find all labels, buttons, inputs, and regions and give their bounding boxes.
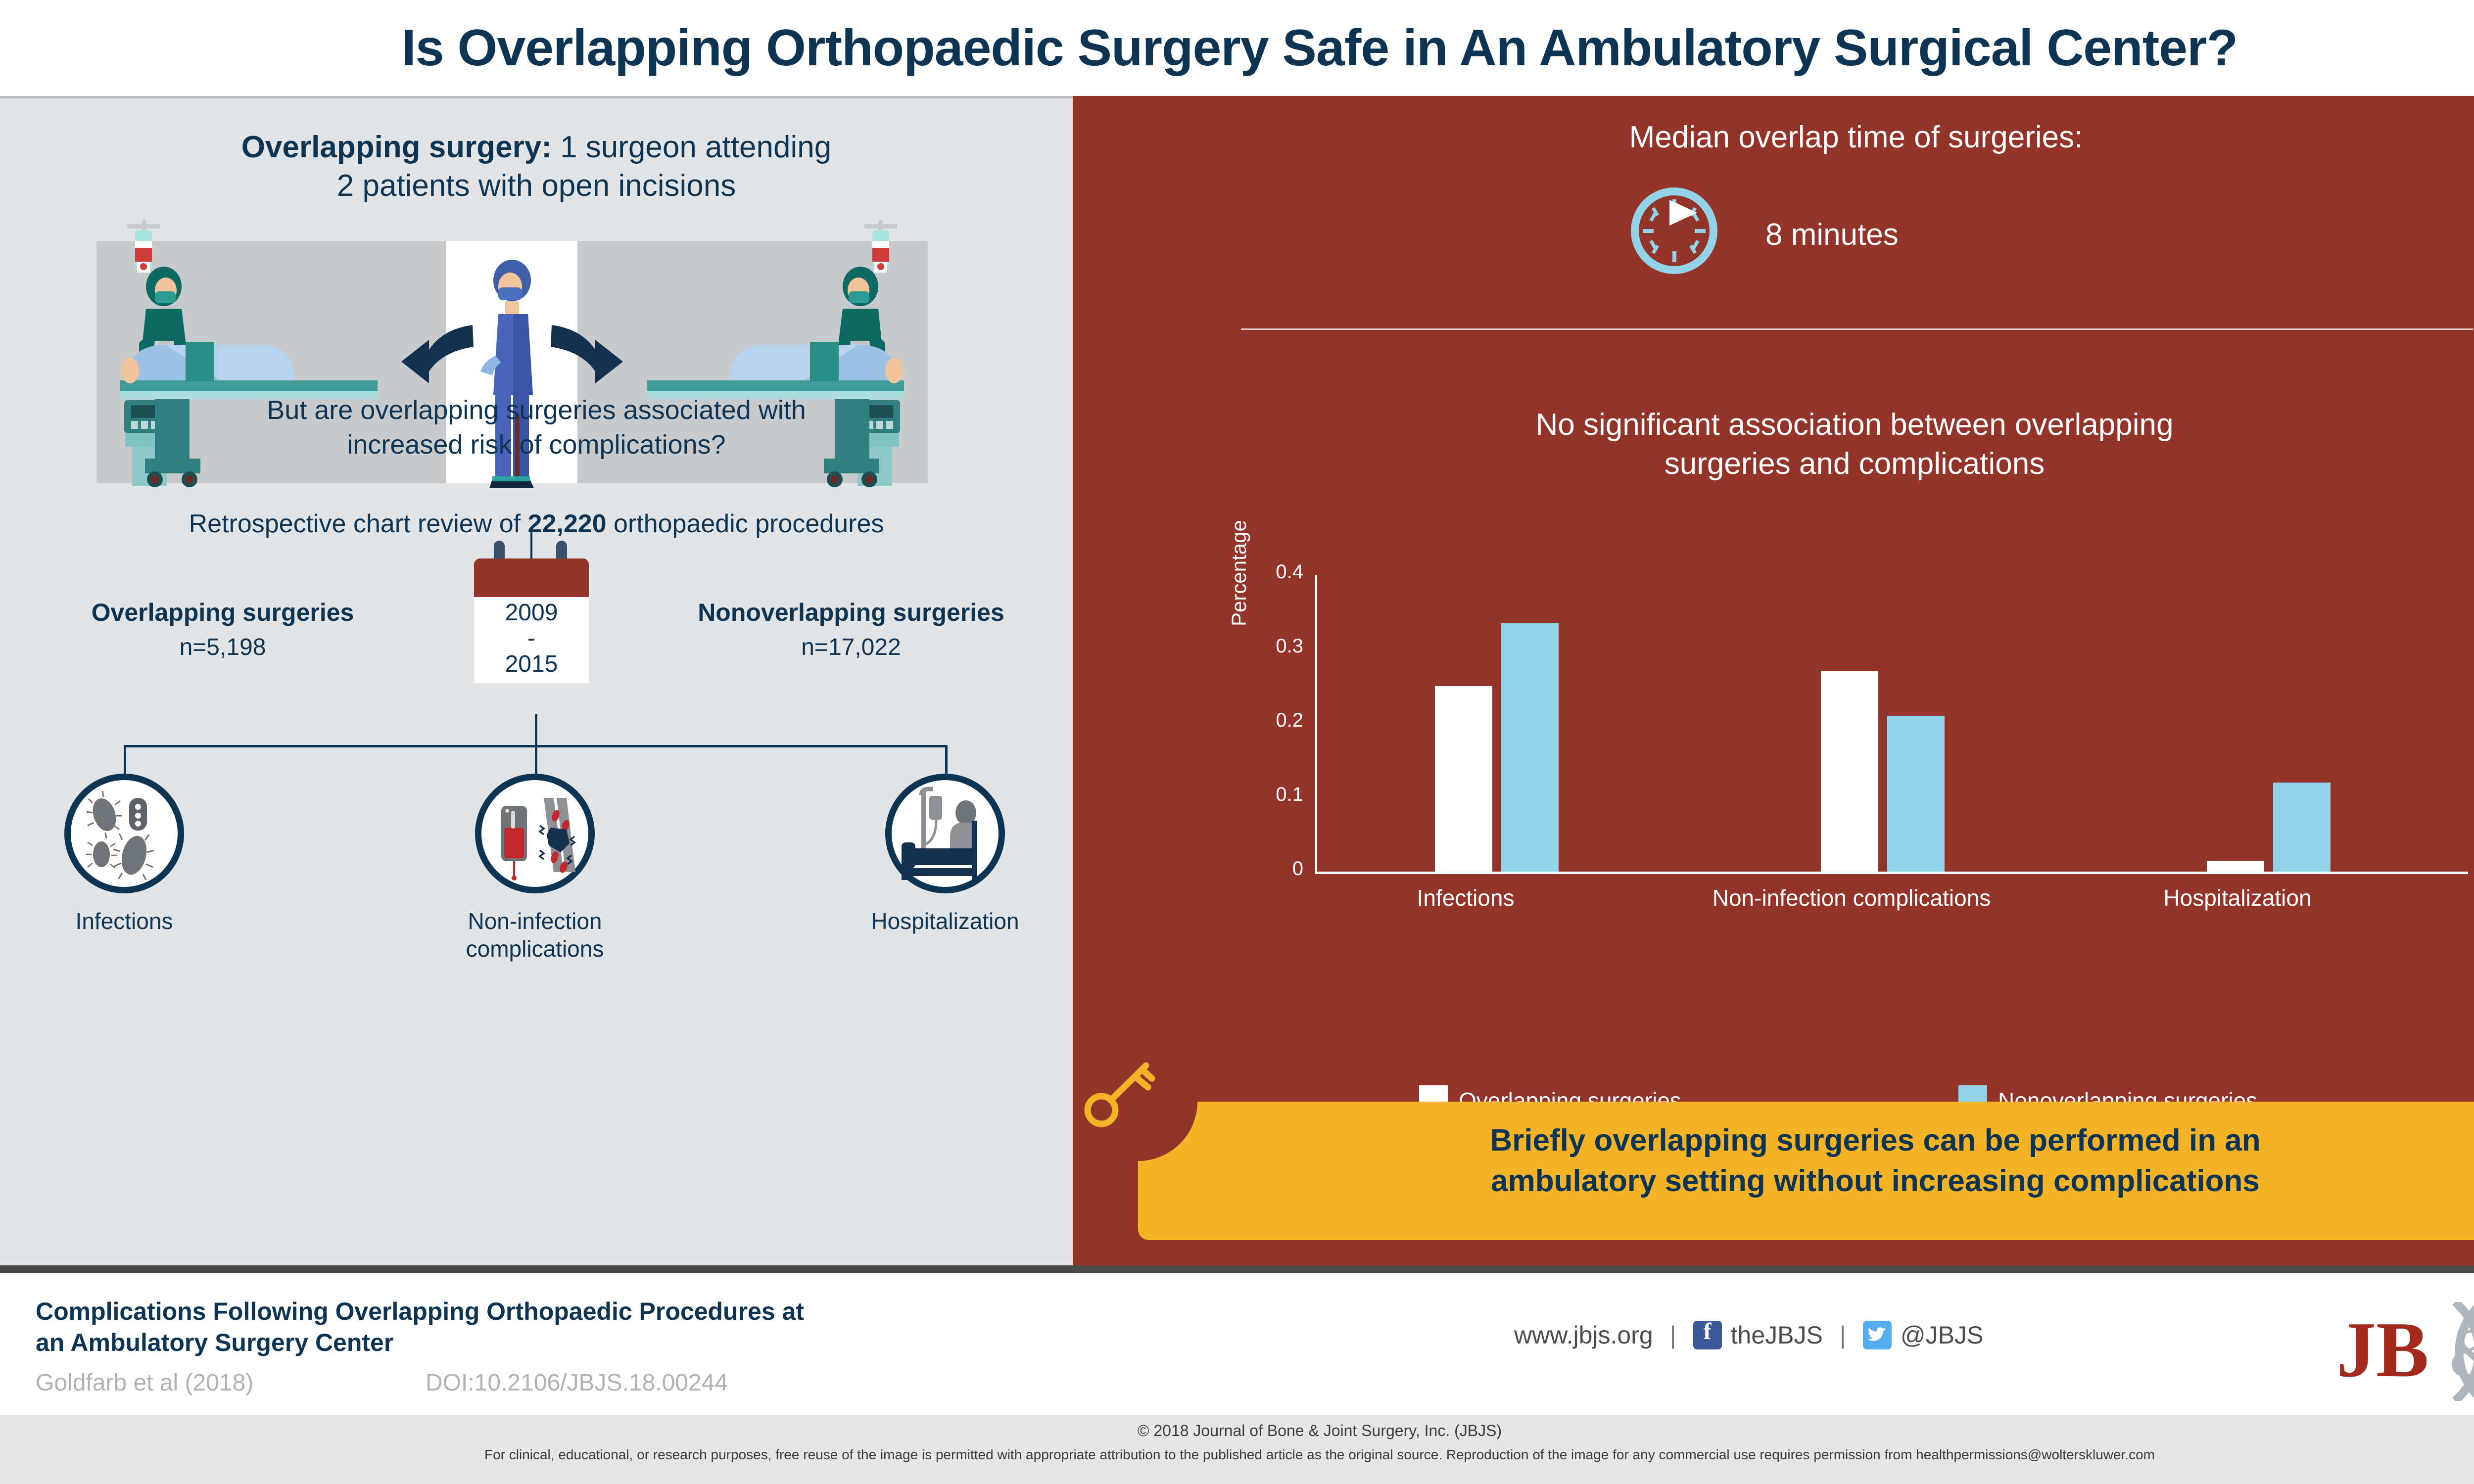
group-overlapping: Overlapping surgeries n=5,198 xyxy=(35,598,411,661)
y-tick-0.3: 0.3 xyxy=(1249,635,1303,657)
left-panel: Overlapping surgery: 1 surgeon attending… xyxy=(0,96,1073,1268)
section-divider xyxy=(1241,328,2473,330)
outcome-circle-hospitalization xyxy=(885,774,1005,893)
social-links: www.jbjs.org | theJBJS | @JBJS xyxy=(1514,1321,1983,1349)
calendar-icon: 2009 - 2015 xyxy=(459,558,613,682)
chart-plot-area: Infections Non-infection complications H… xyxy=(1317,575,2468,872)
right-panel: Median overlap time of surgeries: 8 minu… xyxy=(1073,96,2474,1265)
outcome-label-noninfection: Non-infection complications xyxy=(431,907,639,963)
question-line-2: increased risk of complications? xyxy=(0,427,1073,462)
article-doi[interactable]: DOI:10.2106/JBJS.18.00244 xyxy=(426,1369,728,1396)
group-nonoverlapping: Nonoverlapping surgeries n=17,022 xyxy=(663,598,1039,661)
x-tick-infections: Infections xyxy=(1317,884,1614,912)
bar-infections-overlapping[interactable] xyxy=(1435,686,1492,872)
facebook-icon[interactable] xyxy=(1693,1321,1722,1349)
page-title: Is Overlapping Orthopaedic Surgery Safe … xyxy=(402,19,2237,78)
overlapping-definition: Overlapping surgery: 1 surgeon attending… xyxy=(0,128,1073,205)
chart-review-statement: Retrospective chart review of 22,220 ort… xyxy=(0,509,1073,539)
group-overlapping-count: n=5,198 xyxy=(35,634,411,661)
hospital-bed-icon xyxy=(892,780,999,887)
x-tick-noninfection: Non-infection complications xyxy=(1703,884,2000,912)
calendar-header-band xyxy=(474,558,589,597)
outcome-circle-infections xyxy=(64,774,184,893)
infographic-page: Is Overlapping Orthopaedic Surgery Safe … xyxy=(0,0,2474,1484)
association-heading: No significant association between overl… xyxy=(1162,405,2474,484)
article-title-line-2: an Ambulatory Surgery Center xyxy=(36,1327,1174,1358)
article-authors: Goldfarb et al (2018) xyxy=(36,1369,253,1396)
bar-hospitalization-overlapping[interactable] xyxy=(2207,861,2264,872)
calendar-connector-line xyxy=(530,528,532,560)
year-start: 2009 xyxy=(474,600,589,626)
definition-line2: 2 patients with open incisions xyxy=(0,167,1073,205)
review-suffix: orthopaedic procedures xyxy=(607,510,884,538)
separator-2: | xyxy=(1840,1321,1846,1349)
procedure-count: 22,220 xyxy=(528,510,607,538)
year-dash: - xyxy=(474,626,589,651)
outcome-circle-noninfection xyxy=(475,774,595,893)
bar-group-noninfection xyxy=(1762,575,2040,872)
article-title: Complications Following Overlapping Orth… xyxy=(36,1296,1174,1358)
facebook-handle[interactable]: theJBJS xyxy=(1731,1321,1823,1349)
blood-clot-icon xyxy=(481,780,588,887)
legal-footer: © 2018 Journal of Bone & Joint Surgery, … xyxy=(0,1415,2474,1484)
outcome-connector-tree xyxy=(0,714,1073,774)
association-line-2: surgeries and complications xyxy=(1162,444,2474,483)
bar-hospitalization-nonoverlapping[interactable] xyxy=(2273,783,2331,872)
association-line-1: No significant association between overl… xyxy=(1162,405,2474,444)
bar-group-hospitalization xyxy=(2148,575,2426,872)
bar-noninfection-overlapping[interactable] xyxy=(1821,671,1878,872)
main-panels: Overlapping surgery: 1 surgeon attending… xyxy=(0,96,2474,1265)
chart-x-axis xyxy=(1315,872,2468,874)
year-end: 2015 xyxy=(474,651,589,677)
takeaway-line-2: ambulatory setting without increasing co… xyxy=(1197,1161,2474,1202)
group-overlapping-title: Overlapping surgeries xyxy=(35,598,411,627)
y-tick-0: 0 xyxy=(1249,858,1303,880)
separator-1: | xyxy=(1670,1321,1676,1349)
group-nonoverlapping-count: n=17,022 xyxy=(663,634,1039,661)
calendar-date-range: 2009 - 2015 xyxy=(474,597,589,677)
article-title-line-1: Complications Following Overlapping Orth… xyxy=(36,1296,1174,1327)
tree-drop-1 xyxy=(124,745,126,776)
bar-group-infections xyxy=(1377,575,1654,872)
y-tick-0.2: 0.2 xyxy=(1249,709,1303,732)
twitter-icon[interactable] xyxy=(1863,1321,1892,1349)
footer-divider xyxy=(0,1265,2474,1273)
clock-pointer xyxy=(1669,200,1697,226)
outcome-label-hospitalization: Hospitalization xyxy=(841,907,1049,935)
svg-text:&: & xyxy=(2449,1315,2474,1391)
definition-rest: 1 surgeon attending xyxy=(552,130,831,164)
arrow-right-icon xyxy=(551,325,623,383)
research-question: But are overlapping surgeries associated… xyxy=(0,393,1073,462)
y-tick-0.1: 0.1 xyxy=(1249,784,1303,806)
group-nonoverlapping-title: Nonoverlapping surgeries xyxy=(663,598,1039,627)
reuse-terms: For clinical, educational, or research p… xyxy=(0,1447,2474,1463)
review-prefix: Retrospective chart review of xyxy=(189,510,528,538)
takeaway-line-1: Briefly overlapping surgeries can be per… xyxy=(1197,1120,2474,1161)
question-line-1: But are overlapping surgeries associated… xyxy=(0,393,1073,427)
jbjs-logo: JB & JS xyxy=(2331,1302,2474,1401)
bar-noninfection-nonoverlapping[interactable] xyxy=(1887,716,1945,872)
tree-drop-3 xyxy=(945,745,948,776)
svg-text:JB: JB xyxy=(2336,1305,2429,1393)
definition-label: Overlapping surgery: xyxy=(241,130,552,164)
complications-bar-chart: Percentage 0.4 0.3 0.2 0.1 0 xyxy=(1246,571,2474,927)
footer: Complications Following Overlapping Orth… xyxy=(0,1273,2474,1415)
calendar-body: 2009 - 2015 xyxy=(474,558,589,683)
median-overlap-value: 8 minutes xyxy=(1765,217,2211,252)
y-tick-0.4: 0.4 xyxy=(1249,561,1303,583)
twitter-handle[interactable]: @JBJS xyxy=(1901,1321,1983,1349)
copyright-notice: © 2018 Journal of Bone & Joint Surgery, … xyxy=(0,1422,2474,1440)
takeaway-text: Briefly overlapping surgeries can be per… xyxy=(1197,1120,2474,1202)
key-icon xyxy=(1084,1059,1158,1133)
tree-drop-2 xyxy=(535,745,537,776)
arrow-left-icon xyxy=(401,325,474,383)
tree-stem xyxy=(535,714,537,747)
bar-infections-nonoverlapping[interactable] xyxy=(1501,623,1559,872)
bacteria-icon xyxy=(71,780,178,887)
outcome-label-infections: Infections xyxy=(20,907,228,935)
chart-y-axis-label: Percentage xyxy=(1227,520,1251,626)
overlapping-surgery-illustration xyxy=(96,217,928,366)
website-link[interactable]: www.jbjs.org xyxy=(1514,1321,1653,1349)
title-bar: Is Overlapping Orthopaedic Surgery Safe … xyxy=(0,0,2474,96)
median-overlap-heading: Median overlap time of surgeries: xyxy=(1073,120,2474,155)
x-tick-hospitalization: Hospitalization xyxy=(2089,884,2386,912)
